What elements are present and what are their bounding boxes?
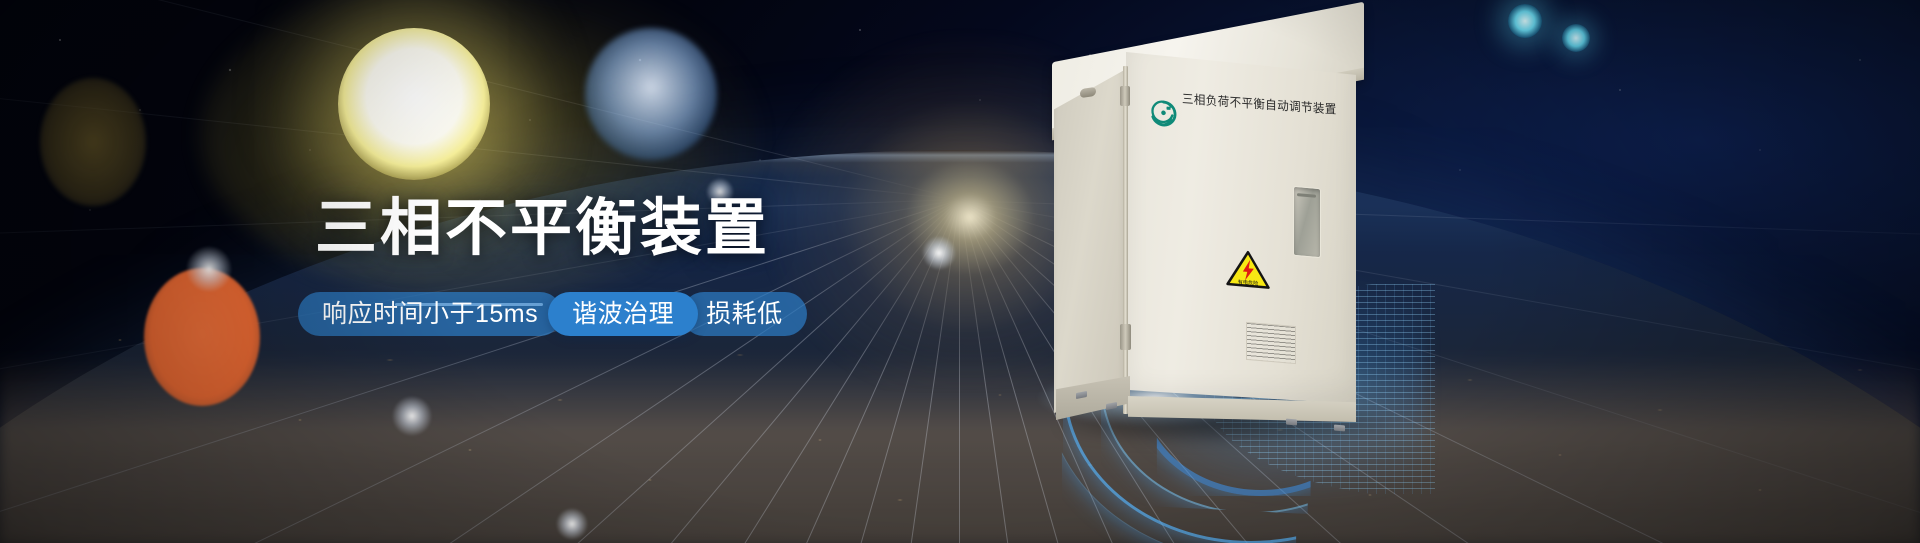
sparkle-node-6 — [556, 508, 588, 540]
product-image: 三相负荷不平衡自动调节装置 有电危险 — [1040, 0, 1680, 543]
feature-tag-harmonic-control[interactable]: 谐波治理 — [548, 292, 698, 336]
page-title: 三相不平衡装置 — [315, 196, 935, 263]
sparkle-node-1 — [186, 246, 232, 292]
cabinet-hinge-lower — [1120, 324, 1131, 350]
headline-block: 三相不平衡装置 — [315, 196, 935, 306]
feature-tag-list: 响应时间小于15ms 谐波治理 损耗低 — [298, 292, 807, 336]
cabinet-ventilation-louver — [1246, 322, 1296, 364]
cabinet-foot-4 — [1334, 425, 1345, 432]
control-cabinet: 三相负荷不平衡自动调节装置 有电危险 — [1050, 24, 1380, 424]
bokeh-blue-light — [585, 28, 717, 160]
bokeh-white-light — [338, 28, 490, 180]
sparkle-node-2 — [392, 396, 432, 436]
bokeh-olive-light — [40, 78, 146, 206]
cabinet-side-panel — [1054, 68, 1128, 413]
feature-tag-response-time[interactable]: 响应时间小于15ms — [298, 292, 562, 336]
cabinet-hinge-upper — [1120, 86, 1130, 106]
promo-banner: (function(){ var host = document.getElem… — [0, 0, 1920, 543]
company-logo-icon — [1150, 99, 1177, 128]
feature-tag-low-loss[interactable]: 损耗低 — [682, 292, 807, 336]
electric-hazard-warning-icon: 有电危险 — [1226, 248, 1270, 290]
cabinet-foot-3 — [1286, 419, 1297, 426]
cabinet-door-seam — [1123, 66, 1128, 414]
cabinet-foot-2 — [1106, 402, 1117, 410]
cabinet-door-handle[interactable] — [1293, 186, 1321, 258]
